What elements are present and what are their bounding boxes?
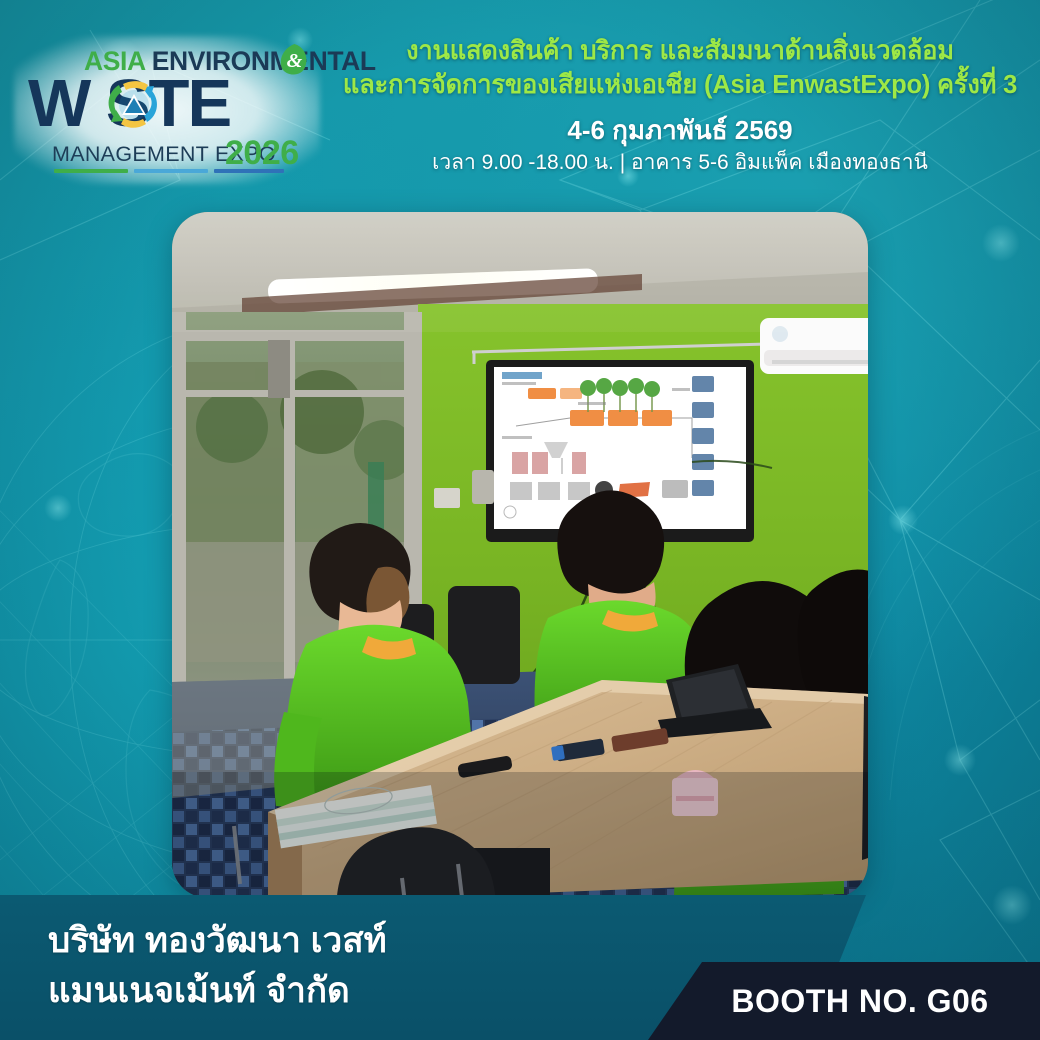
header-text-block: งานแสดงสินค้า บริการ และสัมมนาด้านสิ่งแว… — [330, 34, 1030, 177]
event-title-line1: งานแสดงสินค้า บริการ และสัมมนาด้านสิ่งแว… — [330, 34, 1030, 68]
company-name-line1: บริษัท ทองวัฒนา เวสท์ — [48, 916, 648, 966]
logo-bar-green — [54, 169, 128, 173]
recycle-arrows-icon — [101, 74, 167, 136]
poster-canvas: ASIA ENVIRONMENTAL & W STE — [0, 0, 1040, 1040]
logo-year: 2026 — [225, 136, 299, 170]
event-date: 4-6 กุมภาพันธ์ 2569 — [330, 114, 1030, 146]
event-logo: ASIA ENVIRONMENTAL & W STE — [22, 40, 312, 180]
booth-number: BOOTH NO. G06 — [640, 962, 1040, 1040]
logo-bar-blue — [214, 169, 284, 173]
company-name-line2: แมนเนจเม้นท์ จำกัด — [48, 966, 648, 1016]
company-name: บริษัท ทองวัฒนา เวสท์ แมนเนจเม้นท์ จำกัด — [48, 916, 648, 1016]
logo-bar-lightblue — [134, 169, 208, 173]
header: ASIA ENVIRONMENTAL & W STE — [0, 0, 1040, 200]
event-venue: เวลา 9.00 -18.00 น. | อาคาร 5-6 อิมแพ็ค … — [330, 149, 1030, 177]
meeting-room-photo — [172, 212, 868, 898]
photo-scene — [172, 212, 868, 898]
logo-wordmark: W STE — [28, 72, 312, 138]
svg-text:&: & — [287, 50, 303, 72]
event-title-line2: และการจัดการของเสียแห่งเอเชีย (Asia Enwa… — [330, 68, 1030, 102]
